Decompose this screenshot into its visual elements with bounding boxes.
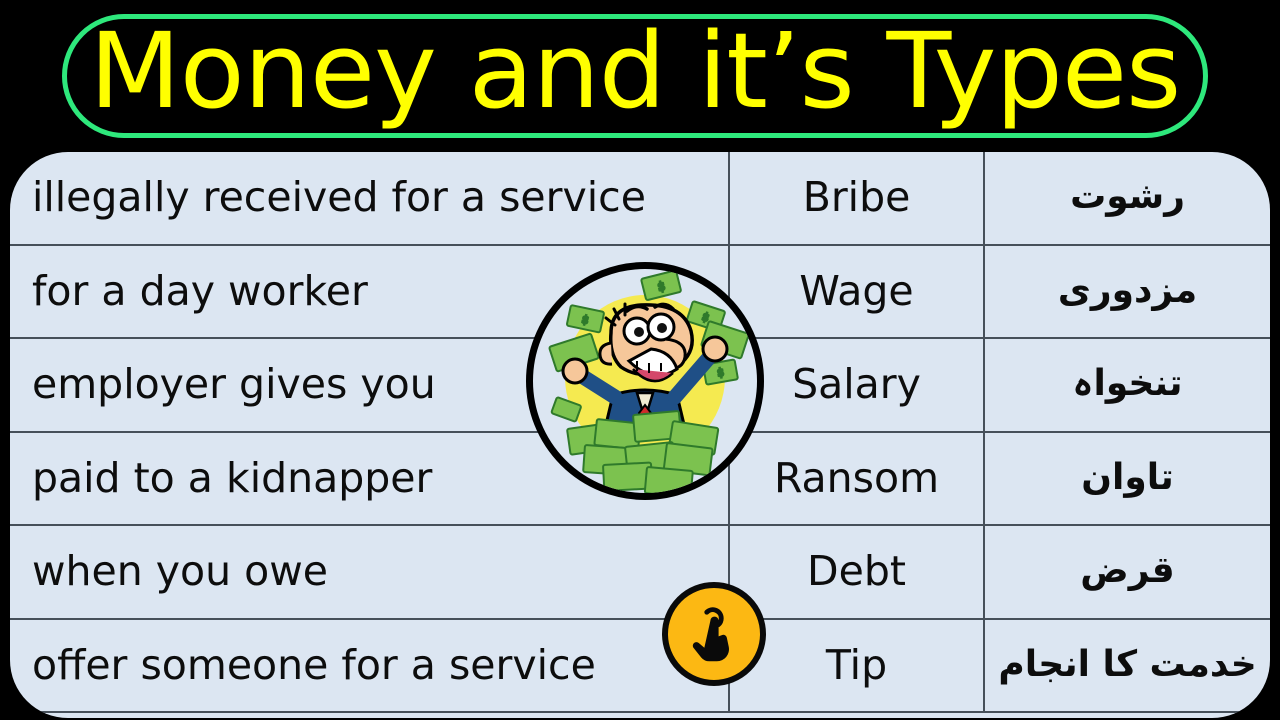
table-cell-word: Ransom: [730, 433, 985, 527]
table-cell-urdu: رشوت: [985, 152, 1270, 246]
table-cell-urdu: قرض: [985, 526, 1270, 620]
table-cell-definition: illegally received for a service: [10, 152, 730, 246]
title-banner: Money and it’s Types: [62, 14, 1208, 138]
urdu-text: قرض: [1080, 548, 1174, 595]
page-title: Money and it’s Types: [89, 19, 1180, 133]
table-cell-word: Tip: [730, 620, 985, 714]
word-text: Salary: [792, 363, 921, 406]
definition-text: illegally received for a service: [32, 176, 646, 219]
table-cell-word: Salary: [730, 339, 985, 433]
definition-text: paid to a kidnapper: [32, 457, 432, 500]
tap-hand-icon: [685, 605, 743, 663]
urdu-text: تاوان: [1081, 455, 1173, 502]
table-cell-urdu: خدمت کا انجام: [985, 620, 1270, 714]
word-text: Tip: [826, 644, 887, 687]
table-cell-word: Wage: [730, 246, 985, 340]
table-cell-urdu: تنخواہ: [985, 339, 1270, 433]
word-text: Wage: [799, 270, 913, 313]
table-cell-urdu: مزدوری: [985, 246, 1270, 340]
table-cell-word: Bribe: [730, 152, 985, 246]
table-cell-definition: offer someone for a service: [10, 620, 730, 714]
urdu-text: خدمت کا انجام: [998, 642, 1256, 689]
definition-text: offer someone for a service: [32, 644, 596, 687]
table-cell-word: Debt: [730, 526, 985, 620]
man-with-money-cartoon-icon: $ $ $ $: [526, 262, 764, 500]
slide-canvas: Money and it’s Types illegally received …: [0, 0, 1280, 720]
definition-text: for a day worker: [32, 270, 368, 313]
tap-hand-button[interactable]: [662, 582, 766, 686]
urdu-text: مزدوری: [1058, 268, 1197, 315]
urdu-text: رشوت: [1070, 174, 1185, 221]
table-cell-definition: when you owe: [10, 526, 730, 620]
word-text: Ransom: [774, 457, 939, 500]
definition-text: employer gives you: [32, 363, 436, 406]
urdu-text: تنخواہ: [1072, 361, 1182, 408]
word-text: Debt: [807, 550, 906, 593]
table-cell-urdu: تاوان: [985, 433, 1270, 527]
word-text: Bribe: [803, 176, 911, 219]
definition-text: when you owe: [32, 550, 328, 593]
